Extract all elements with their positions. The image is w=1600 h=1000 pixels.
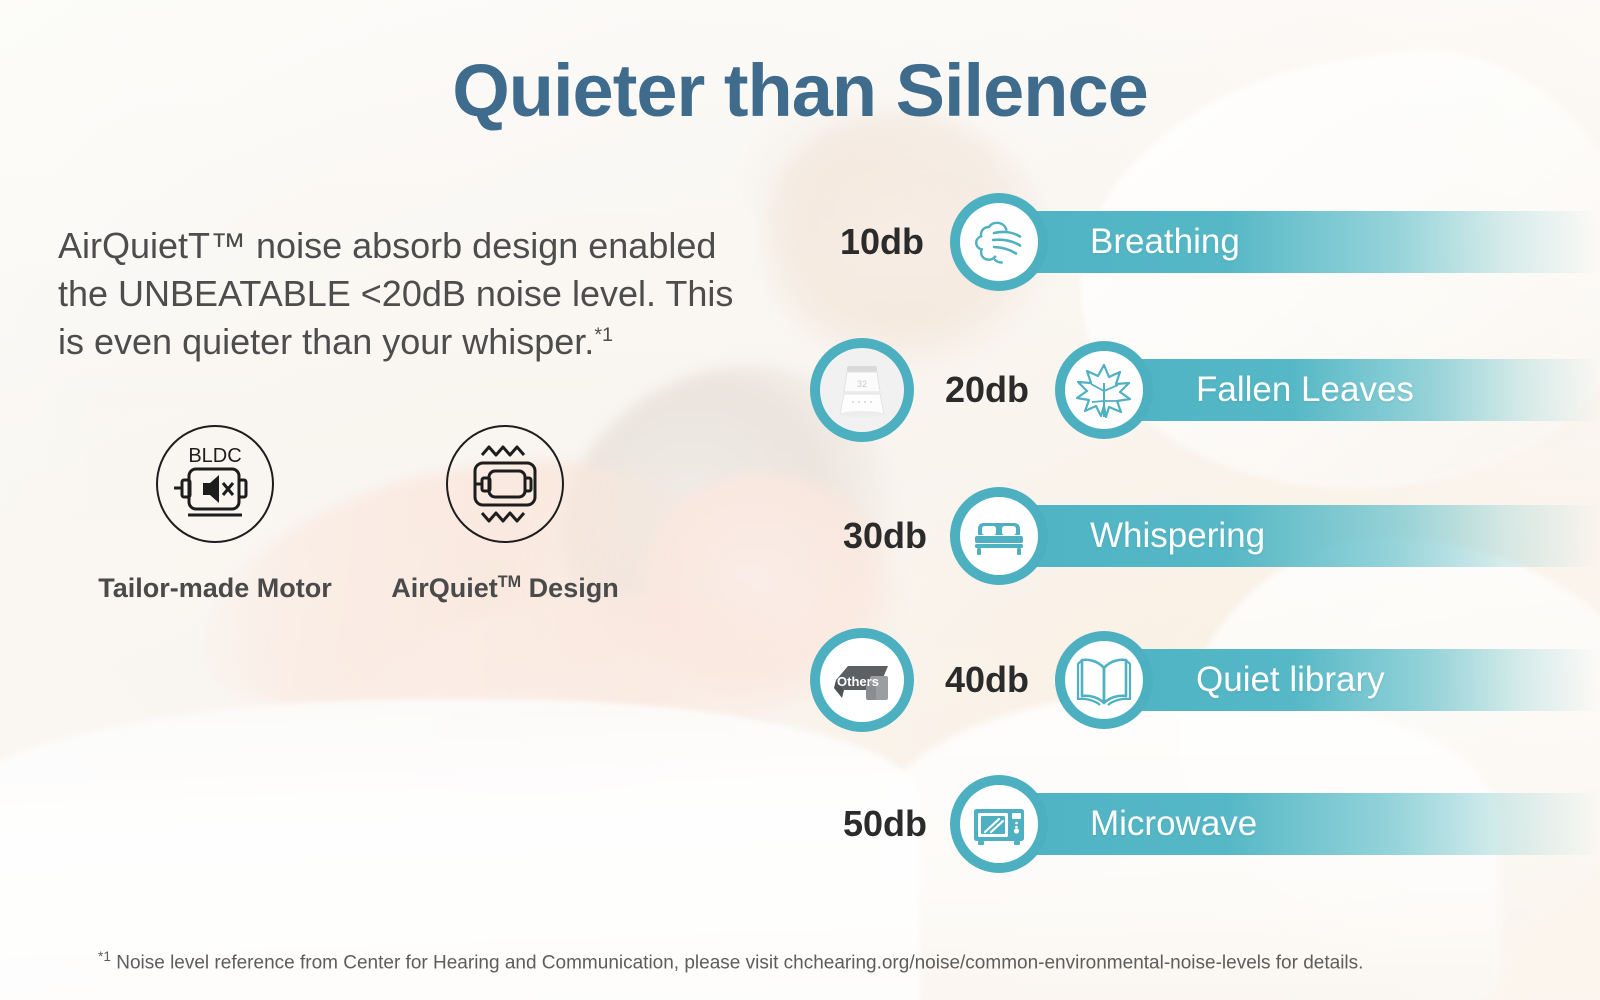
svg-text:32: 32 (857, 379, 867, 389)
noise-row-label: Microwave (1090, 804, 1257, 844)
noise-row-50db: 50db (0, 772, 1600, 876)
noise-row-db-value: 20db (945, 369, 1029, 411)
noise-row-40db: Others 40db Quiet library (0, 628, 1600, 732)
noise-row-label: Fallen Leaves (1196, 370, 1414, 410)
footnote-text: Noise level reference from Center for He… (116, 952, 1363, 973)
noise-row-icon-badge (1055, 631, 1153, 729)
noise-row-label: Whispering (1090, 516, 1265, 556)
microwave-icon (960, 785, 1038, 863)
noise-row-db-value: 50db (843, 803, 927, 845)
footnote-marker: *1 (98, 949, 111, 964)
product-device-badge: 32 (810, 338, 914, 442)
noise-row-icon-badge (1055, 341, 1153, 439)
open-book-icon (1065, 641, 1143, 719)
noise-row-20db: 32 20db (0, 338, 1600, 442)
svg-text:Others: Others (837, 674, 879, 689)
breathing-cloud-icon (960, 203, 1038, 281)
maple-leaf-icon (1065, 351, 1143, 429)
noise-row-icon-badge (950, 775, 1048, 873)
footnote: *1 Noise level reference from Center for… (98, 949, 1363, 974)
product-device-photo: 32 (820, 348, 904, 432)
others-competitors-badge: Others (810, 628, 914, 732)
noise-row-10db: 10db Breathing (0, 190, 1600, 294)
noise-row-label: Quiet library (1196, 660, 1385, 700)
others-badge-inner: Others (820, 638, 904, 722)
noise-row-db-value: 40db (945, 659, 1029, 701)
noise-row-db-value: 30db (843, 515, 927, 557)
noise-row-icon-badge (950, 487, 1048, 585)
noise-row-db-value: 10db (840, 221, 924, 263)
noise-scale-list: 10db Breathing (0, 0, 1600, 1000)
noise-row-30db: 30db Whispering (0, 484, 1600, 588)
noise-row-icon-badge (950, 193, 1048, 291)
bed-icon (960, 497, 1038, 575)
noise-row-label: Breathing (1090, 222, 1240, 262)
